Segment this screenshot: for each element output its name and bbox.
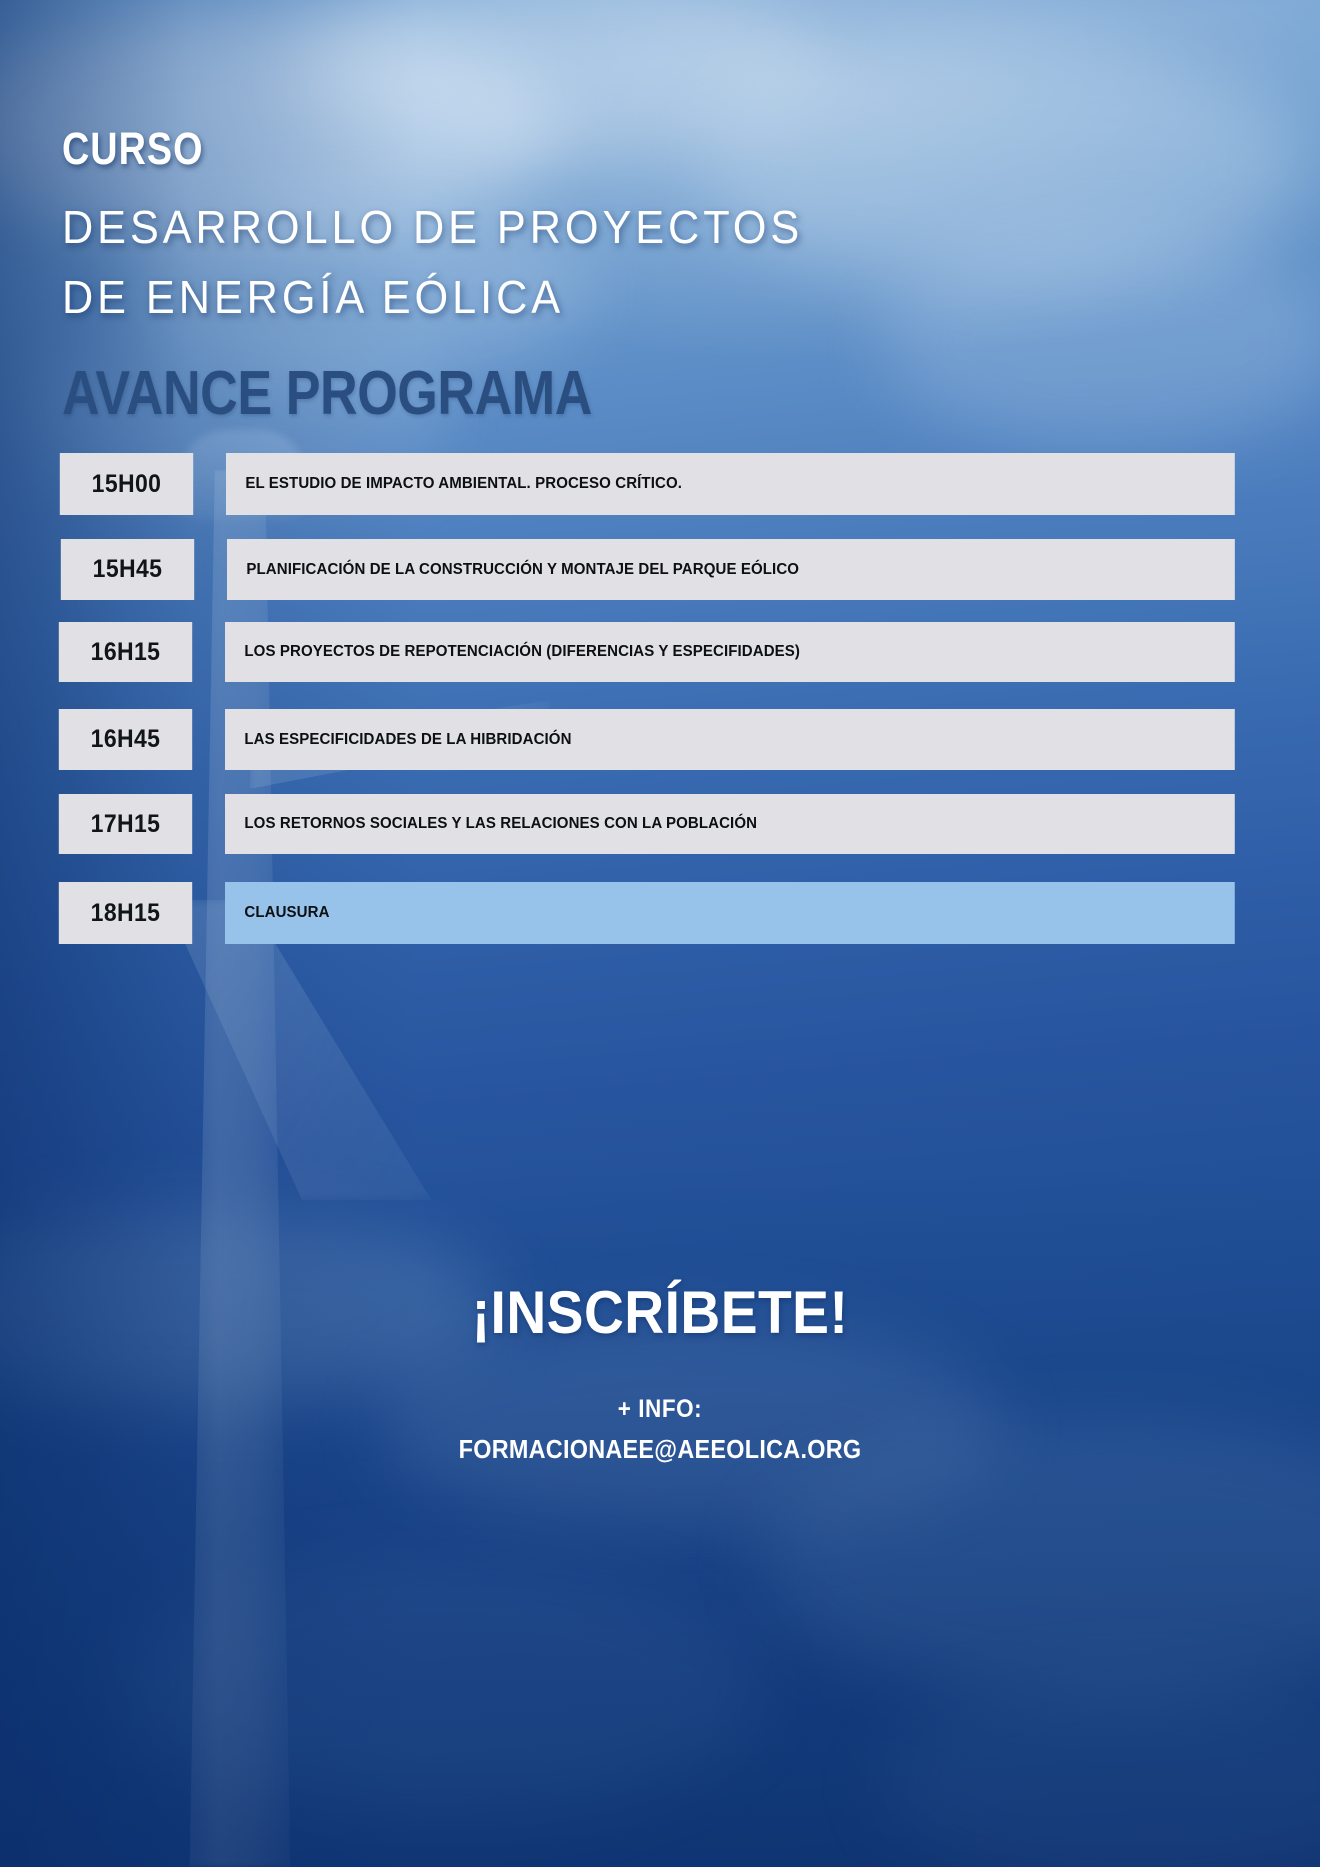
schedule-topic: CLAUSURA	[225, 882, 1235, 944]
schedule-row: 16H45 LAS ESPECIFICIDADES DE LA HIBRIDAC…	[53, 709, 1266, 770]
schedule-topic: LAS ESPECIFICIDADES DE LA HIBRIDACIÓN	[225, 709, 1235, 770]
poster-content: CURSO DESARROLLO DE PROYECTOS DE ENERGÍA…	[0, 0, 1320, 1867]
row-gap	[198, 709, 225, 770]
schedule-row: 16H15 LOS PROYECTOS DE REPOTENCIACIÓN (D…	[53, 622, 1266, 682]
poster-canvas: CURSO DESARROLLO DE PROYECTOS DE ENERGÍA…	[0, 0, 1320, 1867]
row-gap	[199, 453, 226, 515]
row-gap	[200, 539, 227, 600]
schedule-topic: LOS PROYECTOS DE REPOTENCIACIÓN (DIFEREN…	[225, 622, 1235, 682]
schedule-time: 16H15	[59, 622, 192, 682]
schedule-row: 15H00 EL ESTUDIO DE IMPACTO AMBIENTAL. P…	[54, 453, 1266, 515]
schedule-time: 17H15	[59, 794, 192, 854]
contact-email[interactable]: FORMACIONAEE@AEEOLICA.ORG	[66, 1434, 1254, 1465]
schedule-time: 16H45	[59, 709, 192, 770]
schedule-topic: LOS RETORNOS SOCIALES Y LAS RELACIONES C…	[225, 794, 1235, 854]
poster-header: CURSO DESARROLLO DE PROYECTOS DE ENERGÍA…	[62, 126, 962, 425]
course-title-line-1: DESARROLLO DE PROYECTOS	[62, 193, 908, 263]
course-kicker: CURSO	[62, 126, 818, 171]
course-title-line-2: DE ENERGÍA EÓLICA	[62, 263, 908, 333]
schedule-time: 18H15	[59, 882, 192, 944]
program-subtitle: AVANCE PROGRAMA	[62, 363, 818, 425]
schedule-topic: EL ESTUDIO DE IMPACTO AMBIENTAL. PROCESO…	[226, 453, 1235, 515]
schedule-topic: PLANIFICACIÓN DE LA CONSTRUCCIÓN Y MONTA…	[227, 539, 1235, 600]
schedule-time: 15H00	[60, 453, 193, 515]
row-gap	[198, 882, 225, 944]
cta-headline: ¡INSCRÍBETE!	[53, 1278, 1267, 1347]
schedule-row: 15H45 PLANIFICACIÓN DE LA CONSTRUCCIÓN Y…	[55, 539, 1266, 600]
schedule-time: 15H45	[61, 539, 194, 600]
row-gap	[198, 622, 225, 682]
schedule-row-closing: 18H15 CLAUSURA	[53, 882, 1266, 944]
schedule-row: 17H15 LOS RETORNOS SOCIALES Y LAS RELACI…	[53, 794, 1266, 854]
info-label: + INFO:	[66, 1395, 1254, 1424]
row-gap	[198, 794, 225, 854]
schedule-table: 15H00 EL ESTUDIO DE IMPACTO AMBIENTAL. P…	[54, 453, 1266, 944]
